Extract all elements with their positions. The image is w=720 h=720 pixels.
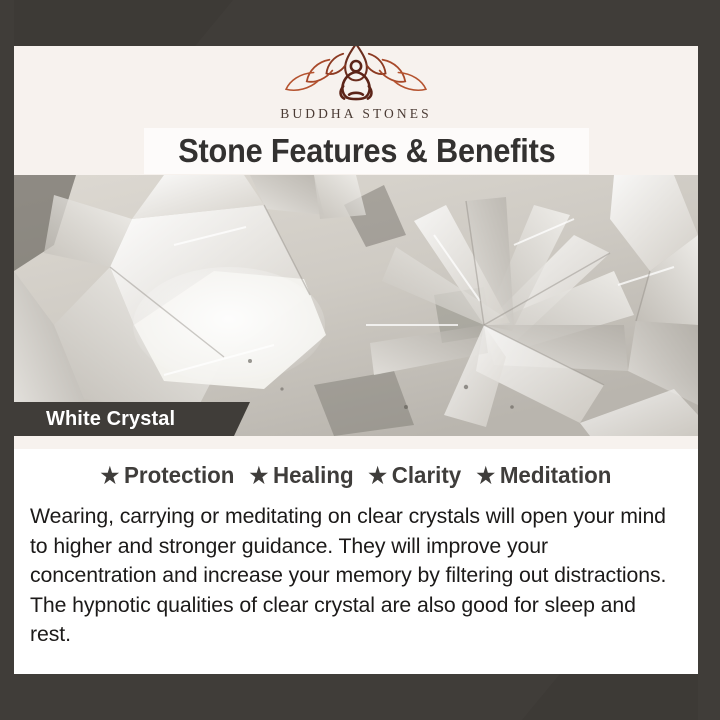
star-icon: ★	[368, 465, 387, 487]
content-top-strip	[14, 436, 698, 449]
crystal-photo-image	[14, 175, 698, 436]
title-banner: Stone Features & Benefits	[144, 128, 589, 174]
star-icon: ★	[101, 465, 120, 487]
crystal-photo: White Crystal	[14, 175, 698, 436]
frame-band-top	[195, 0, 720, 46]
photo-caption-label: White Crystal	[14, 402, 250, 436]
star-icon: ★	[250, 465, 269, 487]
page-title: Stone Features & Benefits	[178, 132, 555, 170]
benefit-item-protection: ★ Protection	[101, 462, 235, 489]
brand-logo: BUDDHA STONES	[14, 46, 698, 122]
benefit-item-meditation: ★ Meditation	[467, 462, 611, 489]
benefits-list: ★ Protection ★ Healing ★ Clarity ★ Medit…	[14, 449, 698, 493]
benefit-item-healing: ★ Healing	[241, 462, 354, 489]
infographic-card: BUDDHA STONES Stone Features & Benefits	[0, 0, 720, 720]
content-panel: ★ Protection ★ Healing ★ Clarity ★ Medit…	[14, 436, 698, 674]
benefit-item-clarity: ★ Clarity	[359, 462, 461, 489]
star-icon: ★	[476, 465, 495, 487]
frame-band-right	[698, 0, 720, 720]
lotus-meditation-figure-icon	[271, 46, 441, 105]
brand-wordmark: BUDDHA STONES	[280, 106, 431, 122]
page-surface: BUDDHA STONES Stone Features & Benefits	[14, 46, 698, 674]
photo-caption-text: White Crystal	[46, 408, 175, 431]
frame-band-bottom	[0, 674, 560, 720]
frame-band-left	[0, 0, 14, 720]
benefit-label: Healing	[273, 462, 354, 489]
benefit-label: Meditation	[499, 462, 611, 489]
benefit-label: Clarity	[391, 462, 460, 489]
benefit-label: Protection	[124, 462, 234, 489]
description-text: Wearing, carrying or meditating on clear…	[30, 501, 672, 649]
